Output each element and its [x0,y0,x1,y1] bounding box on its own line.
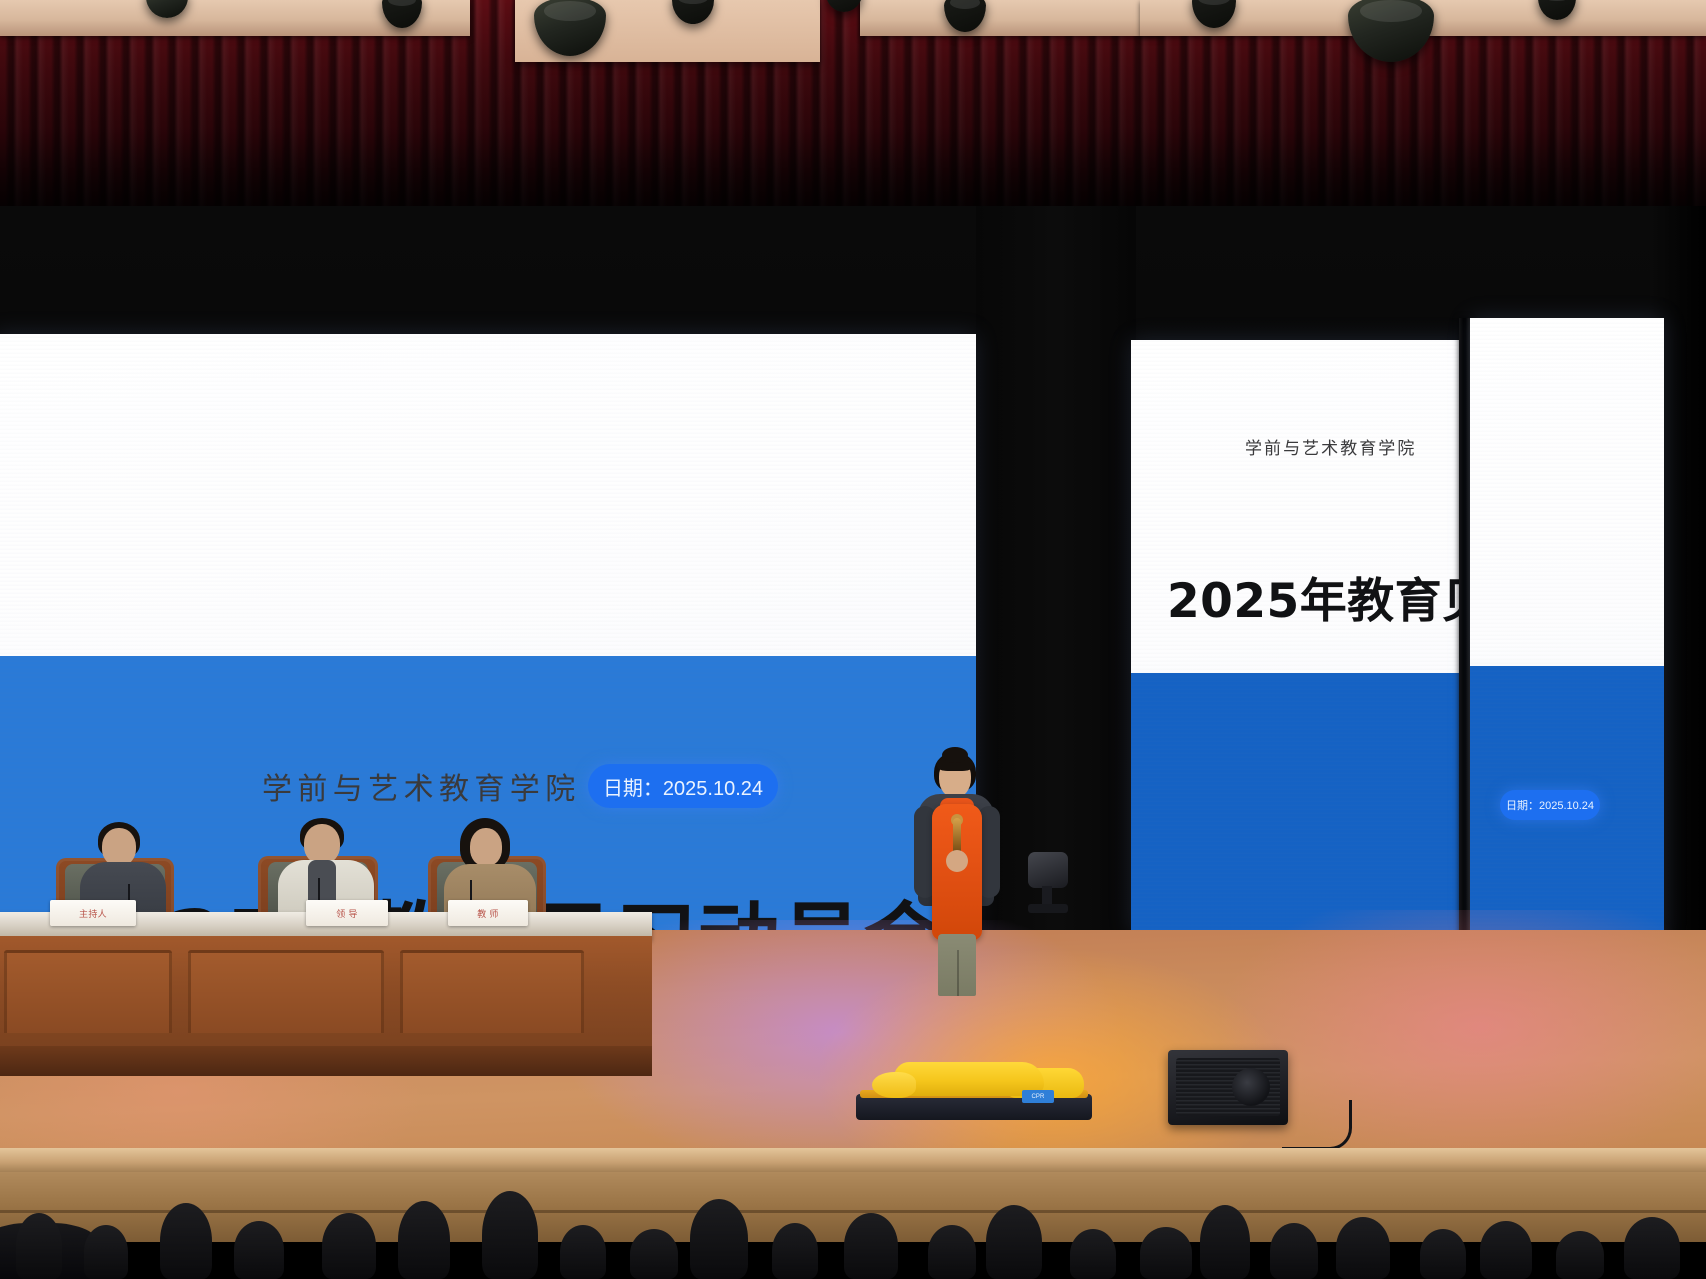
presenter-hair-bun [942,747,968,763]
audience-head [1270,1223,1318,1279]
panelist-head [304,824,340,864]
side-led-screen-right: 日期：2025.10.24 [1470,318,1664,940]
floor-light-body [1028,852,1068,888]
speaker-cable [1282,1100,1352,1150]
manikin-label-text: CPR [1031,1094,1044,1100]
light-lens [678,0,708,4]
cpr-manikin-prop: CPR [856,1058,1092,1120]
screen-bezel-seam [1459,318,1470,936]
audience-head [234,1221,284,1279]
name-card-3: 教 师 [448,900,528,926]
audience-silhouettes [0,1188,1706,1279]
light-lens [1198,0,1230,5]
screen-wave-graphic [1131,673,1465,934]
auditorium-stage-scene: 学前与艺术教育学院 2025年教育见习动员会 日期：2025.10.24 学前与… [0,0,1706,1279]
stage-monitor-speaker [1168,1050,1288,1125]
audience-head [986,1205,1042,1279]
audience-head [1070,1229,1116,1279]
presenter-speaker [908,752,1006,992]
main-screen-subtitle: 学前与艺术教育学院 [262,764,581,808]
side-screen-title: 2025年教育见习动员会 [1167,562,1465,631]
manikin-head [872,1072,916,1098]
name-card-2: 领 导 [306,900,388,926]
stage-edge-lip [0,1148,1706,1174]
name-card-text: 领 导 [336,907,358,920]
audience-head [1200,1205,1250,1279]
audience-head [772,1223,818,1279]
audience-head [928,1225,976,1279]
audience-head [1336,1217,1390,1279]
audience-head [630,1229,678,1279]
floor-light-foot [1028,904,1068,913]
floor-light-unit [1024,852,1070,914]
audience-head [1480,1221,1532,1279]
audience-head [690,1199,748,1279]
audience-head [844,1213,898,1279]
light-lens [1543,0,1570,1]
head-table-body [0,936,652,1054]
panelist-head [102,828,136,866]
wave-band-lower [1131,673,1465,934]
name-card-text: 主持人 [79,907,107,920]
panelist-head [470,828,502,866]
speaker-cone [1232,1068,1270,1106]
audience-head [560,1225,606,1279]
table-front-panel-1 [4,950,172,1036]
floor-light-stand [1042,886,1052,906]
presenter-hands [946,850,968,872]
audience-head [1556,1231,1604,1279]
side-screen-subtitle: 学前与艺术教育学院 [1245,434,1416,459]
audience-head [84,1225,128,1279]
audience-head [1624,1217,1680,1279]
table-front-panel-2 [188,950,384,1036]
audience-head [16,1213,62,1279]
audience-head [482,1191,538,1279]
audience-head [322,1213,376,1279]
audience-head [1140,1227,1192,1279]
name-card-text: 教 师 [477,907,499,920]
side-led-screen-left: 学前与艺术教育学院 2025年教育见习动员会 [1131,340,1465,934]
presenter-leg-split [957,950,959,996]
side-screen-date-badge: 日期：2025.10.24 [1500,790,1600,820]
light-lens [544,1,596,21]
audience-head [398,1201,450,1279]
name-card-1: 主持人 [50,900,136,926]
light-lens [950,0,980,9]
ceiling-rig-beam-mid [860,0,1160,36]
light-lens [1360,0,1422,22]
main-screen-date-badge: 日期：2025.10.24 [588,764,778,808]
light-lens [388,0,417,6]
audience-head [1420,1229,1466,1279]
manikin-brand-label: CPR [1022,1090,1054,1103]
head-table-skirt [0,1046,652,1076]
audience-head [160,1203,212,1279]
table-front-panel-3 [400,950,584,1036]
